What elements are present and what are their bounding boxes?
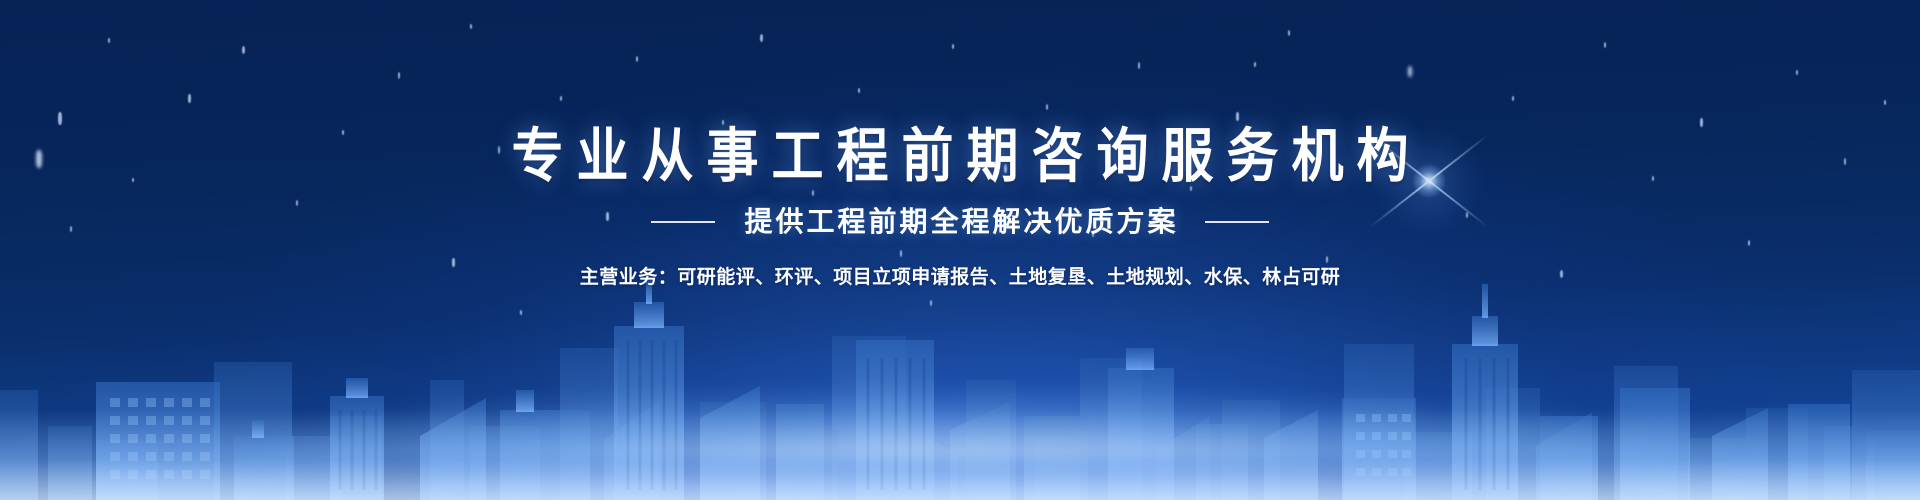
banner-business-scope: 主营业务：可研能评、环评、项目立项申请报告、土地复垦、土地规划、水保、林占可研	[580, 268, 1341, 287]
hero-banner: 专业从事工程前期咨询服务机构 提供工程前期全程解决优质方案 主营业务：可研能评、…	[0, 0, 1920, 500]
banner-headline: 专业从事工程前期咨询服务机构	[498, 128, 1421, 186]
banner-subline: 提供工程前期全程解决优质方案	[741, 208, 1178, 236]
right-rule-divider	[1205, 221, 1269, 223]
banner-subline-row: 提供工程前期全程解决优质方案	[651, 208, 1268, 236]
banner-text-block: 专业从事工程前期咨询服务机构 提供工程前期全程解决优质方案 主营业务：可研能评、…	[0, 0, 1920, 500]
left-rule-divider	[651, 221, 715, 223]
